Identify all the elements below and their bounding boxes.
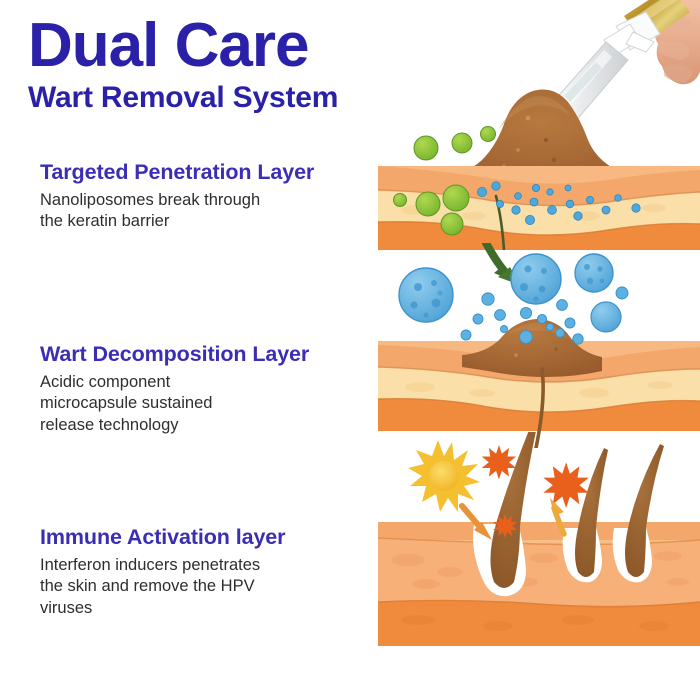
section-heading: Targeted Penetration Layer (40, 160, 370, 185)
section-body-line: the keratin barrier (40, 211, 370, 232)
section-body-line: Interferon inducers penetrates (40, 555, 370, 576)
starburst-icon (543, 462, 589, 508)
section-body-line: microcapsule sustained (40, 393, 370, 414)
liposome-large (511, 254, 561, 304)
liposome-large (399, 268, 453, 322)
sunburst-icon (408, 440, 480, 512)
infographic-root: Dual Care Wart Removal System Targeted P… (0, 0, 700, 700)
hair-follicle (563, 448, 608, 582)
section-targeted-penetration: Targeted Penetration Layer Nanoliposomes… (40, 160, 370, 233)
section-body-line: Nanoliposomes break through (40, 190, 370, 211)
section-immune-activation: Immune Activation layer Interferon induc… (40, 525, 370, 619)
section-wart-decomposition: Wart Decomposition Layer Acidic componen… (40, 342, 370, 436)
section-body-line: release technology (40, 415, 370, 436)
illustration-immune-activation (378, 432, 700, 657)
title-block: Dual Care Wart Removal System (28, 14, 428, 115)
section-body: Nanoliposomes break through the keratin … (40, 190, 370, 233)
illustration-nanoliposomes (378, 243, 700, 448)
section-body-line: viruses (40, 598, 370, 619)
section-body: Acidic component microcapsule sustained … (40, 372, 370, 436)
section-body-line: the skin and remove the HPV (40, 576, 370, 597)
starburst-icon (482, 445, 517, 480)
section-heading: Wart Decomposition Layer (40, 342, 370, 367)
liposome-large (575, 254, 613, 292)
page-subtitle: Wart Removal System (28, 81, 428, 115)
section-heading: Immune Activation layer (40, 525, 370, 550)
liposome-medium (591, 302, 621, 332)
skin-cross-section (378, 522, 700, 646)
section-body-line: Acidic component (40, 372, 370, 393)
nanoliposomes (399, 254, 621, 332)
page-title: Dual Care (28, 14, 428, 77)
section-body: Interferon inducers penetrates the skin … (40, 555, 370, 619)
